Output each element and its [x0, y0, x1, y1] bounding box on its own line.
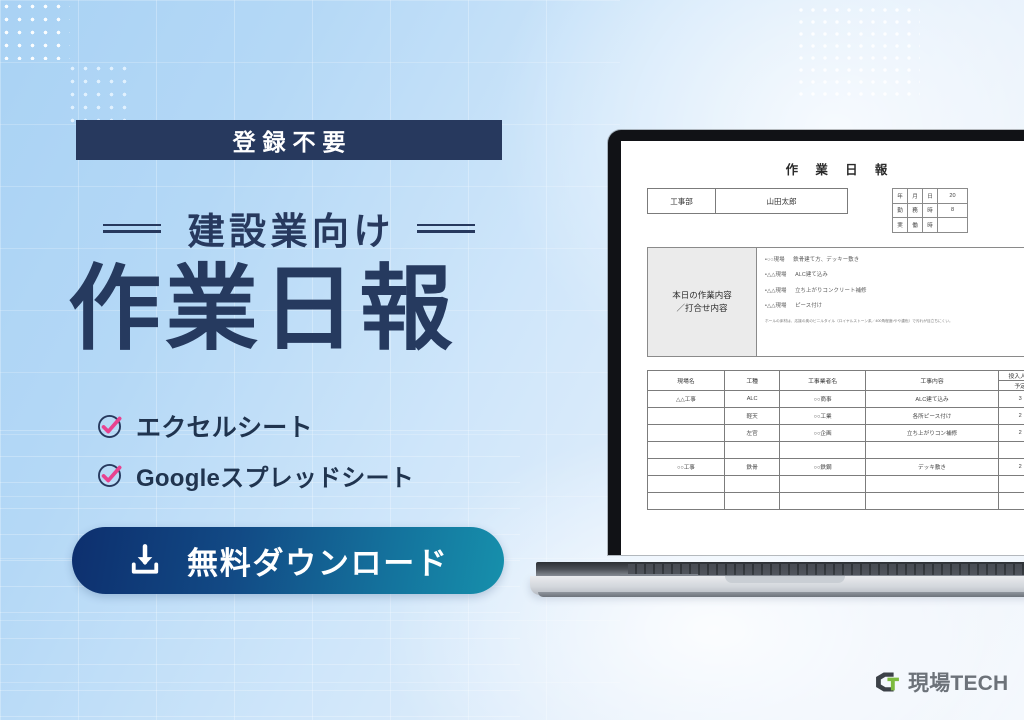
cell-site: △△工事	[648, 390, 725, 407]
col-header-people: 投入人員	[999, 370, 1024, 380]
cell-vendor	[780, 475, 865, 492]
cell-num: 3	[999, 390, 1024, 407]
document-header-row: 工事部 山田太郎 年 月 日 20 勤 務	[647, 188, 1024, 233]
date-value: 20	[938, 189, 968, 204]
cell-desc	[865, 441, 998, 458]
list-item: ・△△現場 ピース付け	[765, 301, 1024, 309]
cell-site: ○○工事	[648, 458, 725, 475]
double-rule-right-icon	[417, 224, 475, 233]
daily-content-block: 本日の作業内容 ／打合せ内容 ・○○現場 鉄骨建て方、デッキー敷き ・△△現場 …	[647, 247, 1024, 357]
date-label: 年	[893, 189, 908, 204]
list-item: Googleスプレッドシート	[96, 458, 414, 493]
cell-num: 2	[999, 458, 1024, 475]
cell-desc: 各所ピース付け	[865, 407, 998, 424]
cell-num: 2	[999, 407, 1024, 424]
cell-desc: 立ち上がりコン補修	[865, 424, 998, 441]
cell-desc: デッキ敷き	[865, 458, 998, 475]
work-detail-table: 現場名 工種 工事業者名 工事内容 投入人員 予定 △△工事 ALC ○○商事 …	[647, 370, 1024, 510]
cell-site	[648, 475, 725, 492]
cell-site	[648, 492, 725, 509]
time-label: 勤	[893, 203, 908, 218]
table-row: 実 働 時	[893, 218, 968, 233]
download-button[interactable]: 無料ダウンロード	[72, 527, 504, 594]
bullet-site: ・△△現場	[765, 303, 786, 309]
actual-value	[938, 218, 968, 233]
content-note: ホールの床材は、応接の奥のビニルタイル（ロイヤルストーン系／400角程度・やや濃…	[765, 319, 1024, 324]
cell-kind: ALC	[724, 390, 780, 407]
list-item: ・△△現場 ALC建て込み	[765, 270, 1024, 278]
laptop-base	[530, 562, 1024, 600]
laptop-screen: 作 業 日 報 工事部 山田太郎 年 月 日 20	[621, 141, 1024, 555]
date-label: 月	[908, 189, 923, 204]
table-row	[648, 492, 1024, 509]
bullet-text: 鉄骨建て方、デッキー敷き	[793, 257, 859, 263]
table-header-row: 現場名 工種 工事業者名 工事内容 投入人員	[648, 370, 1024, 380]
cell-num	[999, 441, 1024, 458]
cell-kind: 左官	[724, 424, 780, 441]
laptop-screen-bezel: 作 業 日 報 工事部 山田太郎 年 月 日 20	[608, 130, 1024, 555]
cell-vendor: ○○商事	[780, 390, 865, 407]
page-title: 作業日報	[68, 262, 528, 357]
actual-label: 時	[923, 218, 938, 233]
bullet-text: ALC建て込み	[795, 272, 828, 278]
cell-kind: 鉄骨	[724, 458, 780, 475]
content-block-body: ・○○現場 鉄骨建て方、デッキー敷き ・△△現場 ALC建て込み ・△△現場 立…	[757, 247, 1024, 357]
actual-label: 実	[893, 218, 908, 233]
feature-label: エクセルシート	[136, 408, 313, 444]
double-rule-left-icon	[103, 224, 161, 233]
bullet-site: ・○○現場	[765, 257, 785, 263]
list-item: ・○○現場 鉄骨建て方、デッキー敷き	[765, 255, 1024, 263]
list-item: エクセルシート	[96, 408, 414, 444]
cell-num: 2	[999, 424, 1024, 441]
cell-num	[999, 475, 1024, 492]
table-row: 勤 務 時 8	[893, 203, 968, 218]
cell-site	[648, 424, 725, 441]
document-title: 作 業 日 報	[647, 159, 1024, 178]
dept-cell: 工事部	[648, 189, 716, 214]
person-cell: 山田太郎	[716, 189, 848, 214]
date-time-table: 年 月 日 20 勤 務 時 8 実 働	[892, 188, 968, 233]
time-label: 時	[923, 203, 938, 218]
table-row: ○○工事 鉄骨 ○○鉄鋼 デッキ敷き 2	[648, 458, 1024, 475]
list-item: ・△△現場 立ち上がりコンクリート補修	[765, 286, 1024, 294]
content-label-line2: ／打合せ内容	[676, 302, 727, 315]
col-header-kind: 工種	[724, 370, 780, 390]
download-icon	[127, 543, 163, 579]
cell-vendor	[780, 492, 865, 509]
cell-site	[648, 441, 725, 458]
cell-desc	[865, 492, 998, 509]
content-block-label: 本日の作業内容 ／打合せ内容	[647, 247, 757, 357]
cell-desc	[865, 475, 998, 492]
cell-desc: ALC建て込み	[865, 390, 998, 407]
check-circle-icon	[96, 413, 123, 440]
badge-label: 登録不要	[226, 123, 353, 157]
time-value: 8	[938, 203, 968, 218]
table-row: △△工事 ALC ○○商事 ALC建て込み 3	[648, 390, 1024, 407]
laptop-mockup: 作 業 日 報 工事部 山田太郎 年 月 日 20	[530, 118, 1024, 598]
subtitle-row: 建設業向け	[76, 200, 502, 256]
bullet-text: ピース付け	[795, 303, 822, 309]
work-report-document: 作 業 日 報 工事部 山田太郎 年 月 日 20	[621, 141, 1024, 555]
cell-kind	[724, 492, 780, 509]
table-row	[648, 441, 1024, 458]
date-label: 日	[923, 189, 938, 204]
col-header-vendor: 工事業者名	[780, 370, 865, 390]
table-row: 左官 ○○企画 立ち上がりコン補修 2	[648, 424, 1024, 441]
cell-num	[999, 492, 1024, 509]
brand-logo-text: 現場TECH	[908, 667, 1008, 697]
brand-logo: 現場TECH	[872, 667, 1008, 697]
col-header-site: 現場名	[648, 370, 725, 390]
laptop-bottom-edge	[538, 592, 1024, 597]
cell-site	[648, 407, 725, 424]
actual-label: 働	[908, 218, 923, 233]
table-row: 軽天 ○○工業 各所ピース付け 2	[648, 407, 1024, 424]
subtitle-label: 建設業向け	[183, 201, 395, 255]
cell-vendor: ○○企画	[780, 424, 865, 441]
bullet-site: ・△△現場	[765, 288, 786, 294]
content-label-line1: 本日の作業内容	[672, 289, 732, 302]
cell-kind	[724, 441, 780, 458]
dot-grid-top-right	[795, 4, 920, 101]
col-header-desc: 工事内容	[865, 370, 998, 390]
feature-label: Googleスプレッドシート	[136, 458, 414, 493]
laptop-trackpad-notch	[725, 576, 845, 583]
bullet-text: 立ち上がりコンクリート補修	[795, 288, 866, 294]
left-content-column: 登録不要 建設業向け 作業日報 エクセルシート Googleスプレッドシート	[0, 0, 540, 720]
col-subheader-planned: 予定	[999, 380, 1024, 390]
cell-vendor: ○○鉄鋼	[780, 458, 865, 475]
check-circle-icon	[96, 462, 123, 489]
bullet-site: ・△△現場	[765, 272, 786, 278]
dept-person-table: 工事部 山田太郎	[647, 188, 848, 214]
cell-vendor	[780, 441, 865, 458]
cell-kind: 軽天	[724, 407, 780, 424]
genba-tech-logo-icon	[872, 667, 902, 697]
feature-list: エクセルシート Googleスプレッドシート	[96, 408, 414, 507]
time-label: 務	[908, 203, 923, 218]
status-badge: 登録不要	[76, 120, 502, 160]
download-button-label: 無料ダウンロード	[185, 538, 448, 583]
table-row	[648, 475, 1024, 492]
cell-vendor: ○○工業	[780, 407, 865, 424]
table-row: 年 月 日 20	[893, 189, 968, 204]
cell-kind	[724, 475, 780, 492]
